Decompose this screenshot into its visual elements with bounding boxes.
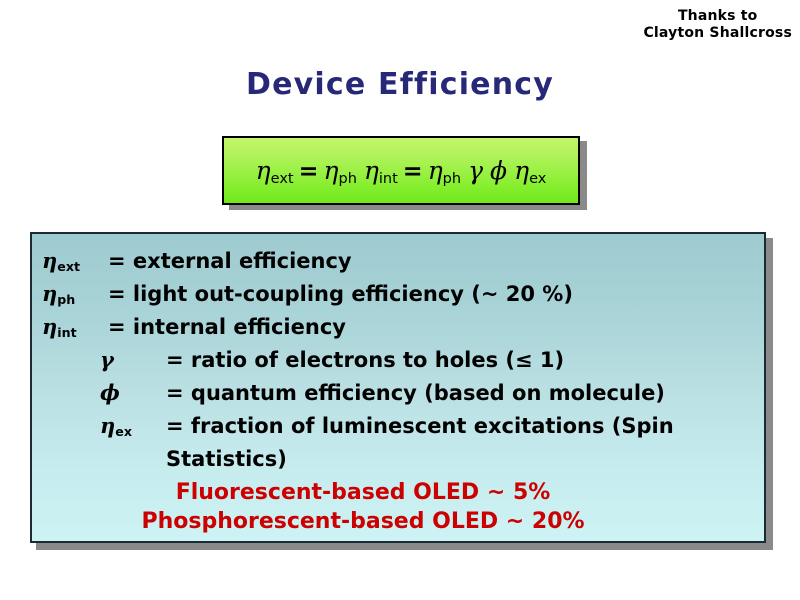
definition-row: ηex = fraction of luminescent excitation… [42,411,764,444]
symbol-eta-ex: ηex [100,411,166,444]
formula-equals-1: = [294,157,324,185]
formula-box: ηext=ηphηint=ηphγϕηex [222,136,580,205]
formula-equals-2: = [398,157,428,185]
formula-eta-ext: ηext [256,156,294,185]
symbol-eta-int: ηint [42,312,108,345]
result-fluorescent: Fluorescent-based OLED ~ 5% [42,478,764,507]
efficiency-formula: ηext=ηphηint=ηphγϕηex [256,156,547,185]
definition-text: = ratio of electrons to holes (≤ 1) [166,345,564,375]
definition-row: ηint = internal efficiency [42,312,764,345]
formula-eta-ph-1: ηph [324,156,357,185]
formula-eta-ph-2: ηph [428,156,461,185]
result-phosphorescent: Phosphorescent-based OLED ~ 20% [42,507,764,536]
results-block: Fluorescent-based OLED ~ 5% Phosphoresce… [42,478,764,536]
definition-row: ϕ = quantum efficiency (based on molecul… [42,378,764,411]
symbol-phi: ϕ [100,378,166,411]
page-title: Device Efficiency [0,67,800,102]
symbol-eta-ph: ηph [42,279,108,312]
symbol-gamma: γ [100,345,166,378]
credit-line-1: Thanks to [643,8,792,25]
definition-box: ηext = external efficiency ηph = light o… [30,232,766,543]
formula-eta-int: ηint [357,156,398,185]
credit-note: Thanks to Clayton Shallcross [643,8,792,42]
definition-row: ηext = external efficiency [42,246,764,279]
definition-list: ηext = external efficiency ηph = light o… [42,246,764,474]
definition-continuation-text: Statistics) [166,444,287,474]
definition-continuation-row: Statistics) [42,444,764,474]
definition-text: = internal efficiency [108,312,346,342]
definition-text: = external efficiency [108,246,352,276]
definition-row: γ = ratio of electrons to holes (≤ 1) [42,345,764,378]
definition-text: = light out-coupling efficiency (~ 20 %) [108,279,573,309]
formula-gamma: γ [461,156,483,185]
credit-line-2: Clayton Shallcross [643,25,792,42]
formula-eta-ex: ηex [507,156,546,185]
symbol-eta-ext: ηext [42,246,108,279]
formula-phi: ϕ [483,156,507,185]
definition-text: = fraction of luminescent excitations (S… [166,411,674,441]
definition-text: = quantum efficiency (based on molecule) [166,378,665,408]
definition-row: ηph = light out-coupling efficiency (~ 2… [42,279,764,312]
